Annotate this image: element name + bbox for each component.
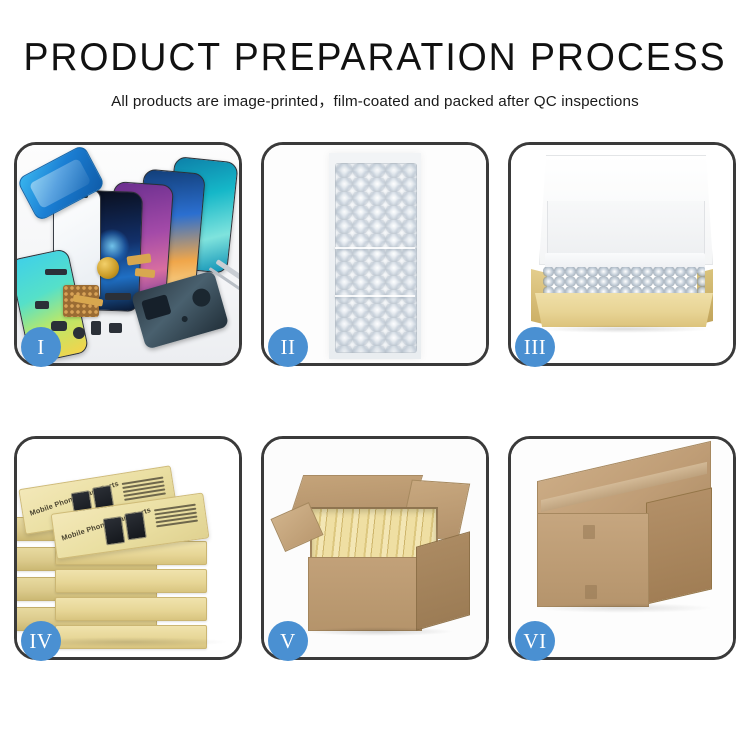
step-panel-4: Mobile Phone Spare Parts Mobile Phone Sp… <box>14 436 242 660</box>
step-panel-2: II <box>261 142 489 366</box>
box-stack: Mobile Phone Spare Parts Mobile Phone Sp… <box>21 451 239 651</box>
page-subtitle: All products are image-printed，film-coat… <box>0 80 750 111</box>
bubble-wrap-icon <box>543 267 705 297</box>
component-icon <box>45 269 67 275</box>
drop-shadow <box>537 325 711 333</box>
drop-shadow <box>304 627 454 636</box>
drop-shadow <box>535 603 713 613</box>
component-icon <box>91 321 101 335</box>
component-icon <box>35 301 49 309</box>
step-badge-6: VI <box>515 621 555 661</box>
component-icon <box>73 327 85 339</box>
step-panel-6: VI <box>508 436 736 660</box>
step-panel-3: III <box>508 142 736 366</box>
carton-seam-tab <box>585 585 597 599</box>
page-title: PRODUCT PREPARATION PROCESS <box>15 0 735 80</box>
box-spec-lines <box>154 504 199 536</box>
carton-side-panel <box>416 531 470 630</box>
step-badge-5: V <box>268 621 308 661</box>
retail-box <box>55 597 207 621</box>
page-header: PRODUCT PREPARATION PROCESS All products… <box>0 0 750 111</box>
carton-front-panel <box>308 557 422 631</box>
carton-seam-tab <box>583 525 595 539</box>
step-badge-4: IV <box>21 621 61 661</box>
coil-part-icon <box>97 257 119 279</box>
bubble-wrap-icon <box>335 163 417 353</box>
component-icon <box>105 293 131 300</box>
component-icon <box>109 323 122 333</box>
phone-print-icon <box>103 516 126 545</box>
component-icon <box>51 321 67 331</box>
step-panel-5: V <box>261 436 489 660</box>
step-badge-1: I <box>21 327 61 367</box>
carton-side-panel <box>646 487 712 604</box>
step-badge-3: III <box>515 327 555 367</box>
phone-print-icon <box>124 511 147 540</box>
process-steps-grid: I II III <box>14 142 737 682</box>
wrap-seam <box>335 247 415 249</box>
wrap-seam <box>335 295 415 297</box>
box-front-panel <box>535 293 713 327</box>
retail-box <box>55 569 207 593</box>
step-panel-1: I <box>14 142 242 366</box>
step-badge-2: II <box>268 327 308 367</box>
